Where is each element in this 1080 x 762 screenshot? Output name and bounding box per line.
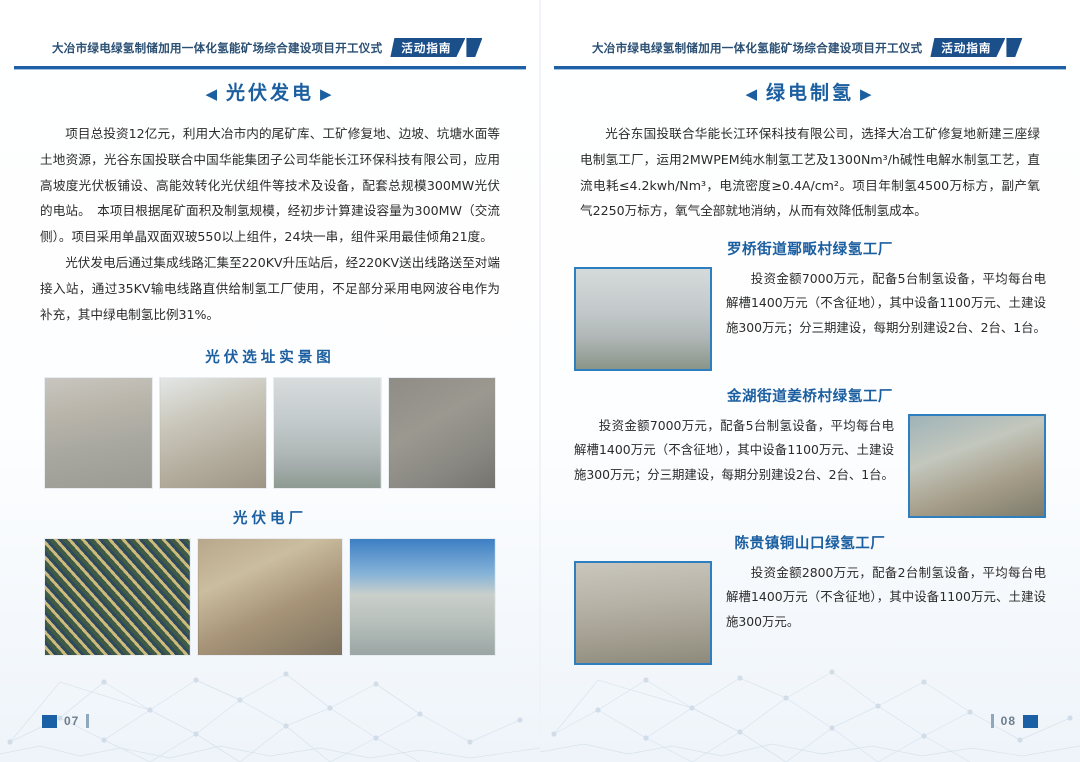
photo-site-lakeside [273,377,382,489]
photo-site-aerial-farmland [44,377,153,489]
arrow-right-icon: ▶ [320,86,335,103]
gallery-two [0,538,540,656]
gallery-two-title: 光伏电厂 [0,507,540,528]
factory-block-jinhu: 金湖街道姜桥村绿氢工厂 投资金额7000万元，配备5台制氢设备，平均每台电解槽1… [540,385,1080,518]
factory-text: 投资金额7000万元，配备5台制氢设备，平均每台电解槽1400万元（不含征地），… [726,267,1046,340]
folio-bar-icon [86,714,89,728]
running-head-title: 大冶市绿电绿氢制储加用一体化氢能矿场综合建设项目开工仪式 [592,40,922,56]
photo-pv-mountain [197,538,344,656]
photo-factory-jinhu-quarry [908,414,1046,518]
section-title-hydrogen-label: 绿电制氢 [766,83,854,104]
photo-factory-chengui-tongshankou [574,561,712,665]
photo-pv-array-rows [44,538,191,656]
factory-block-chengui: 陈贵镇铜山口绿氢工厂 投资金额2800万元，配备2台制氢设备，平均每台电解槽14… [540,532,1080,665]
folio-left: 07 [42,714,89,728]
gallery-one [0,377,540,489]
folio-right: 08 [991,714,1038,728]
running-head-rule [554,66,1066,69]
page-right: 大冶市绿电绿氢制储加用一体化氢能矿场综合建设项目开工仪式 活动指南 ◀绿电制氢▶… [540,0,1080,762]
running-head-badge-tail [1006,38,1022,57]
running-head-badge: 活动指南 [930,38,1005,57]
running-head-left: 大冶市绿电绿氢制储加用一体化氢能矿场综合建设项目开工仪式 活动指南 [0,38,540,72]
photo-site-terrain [388,377,497,489]
running-head-title: 大冶市绿电绿氢制储加用一体化氢能矿场综合建设项目开工仪式 [52,40,382,56]
folio-square-icon [42,715,57,728]
running-head-right: 大冶市绿电绿氢制储加用一体化氢能矿场综合建设项目开工仪式 活动指南 [540,38,1080,72]
section-title-hydrogen: ◀绿电制氢▶ [540,78,1080,105]
photo-factory-luoqiao-lake [574,267,712,371]
folio-bar-icon [991,714,994,728]
factory-title: 罗桥街道鄢畈村绿氢工厂 [574,238,1046,259]
body-column-right: 光谷东国投联合华能长江环保科技有限公司，选择大冶工矿修复地新建三座绿电制氢工厂，… [540,121,1080,224]
factory-text: 投资金额2800万元，配备2台制氢设备，平均每台电解槽1400万元（不含征地），… [726,561,1046,634]
factory-block-luoqiao: 罗桥街道鄢畈村绿氢工厂 投资金额7000万元，配备5台制氢设备，平均每台电解槽1… [540,238,1080,371]
brochure-spread: 大冶市绿电绿氢制储加用一体化氢能矿场综合建设项目开工仪式 活动指南 ◀光伏发电▶… [0,0,1080,762]
running-head-rule [14,66,526,69]
arrow-left-icon: ◀ [745,86,760,103]
factory-text: 投资金额7000万元，配备5台制氢设备，平均每台电解槽1400万元（不含征地），… [574,414,894,487]
arrow-right-icon: ▶ [860,86,875,103]
photo-pv-solar-tower [349,538,496,656]
paragraph: 光伏发电后通过集成线路汇集至220KV升压站后，经220KV送出线路送至对端接入… [40,250,500,327]
folio-square-icon [1023,715,1038,728]
gallery-one-title: 光伏选址实景图 [0,346,540,367]
arrow-left-icon: ◀ [205,86,220,103]
paragraph: 项目总投资12亿元，利用大冶市内的尾矿库、工矿修复地、边坡、坑塘水面等土地资源，… [40,121,500,250]
section-title-pv: ◀光伏发电▶ [0,78,540,105]
page-left: 大冶市绿电绿氢制储加用一体化氢能矿场综合建设项目开工仪式 活动指南 ◀光伏发电▶… [0,0,540,762]
section-title-pv-label: 光伏发电 [226,83,314,104]
paragraph: 光谷东国投联合华能长江环保科技有限公司，选择大冶工矿修复地新建三座绿电制氢工厂，… [580,121,1040,224]
photo-site-hill-road [159,377,268,489]
folio-number: 08 [1001,714,1016,728]
body-column-left: 项目总投资12亿元，利用大冶市内的尾矿库、工矿修复地、边坡、坑塘水面等土地资源，… [0,121,540,328]
folio-number: 07 [64,714,79,728]
factory-title: 金湖街道姜桥村绿氢工厂 [574,385,1046,406]
factory-title: 陈贵镇铜山口绿氢工厂 [574,532,1046,553]
running-head-badge-tail [466,38,482,57]
running-head-badge: 活动指南 [390,38,465,57]
